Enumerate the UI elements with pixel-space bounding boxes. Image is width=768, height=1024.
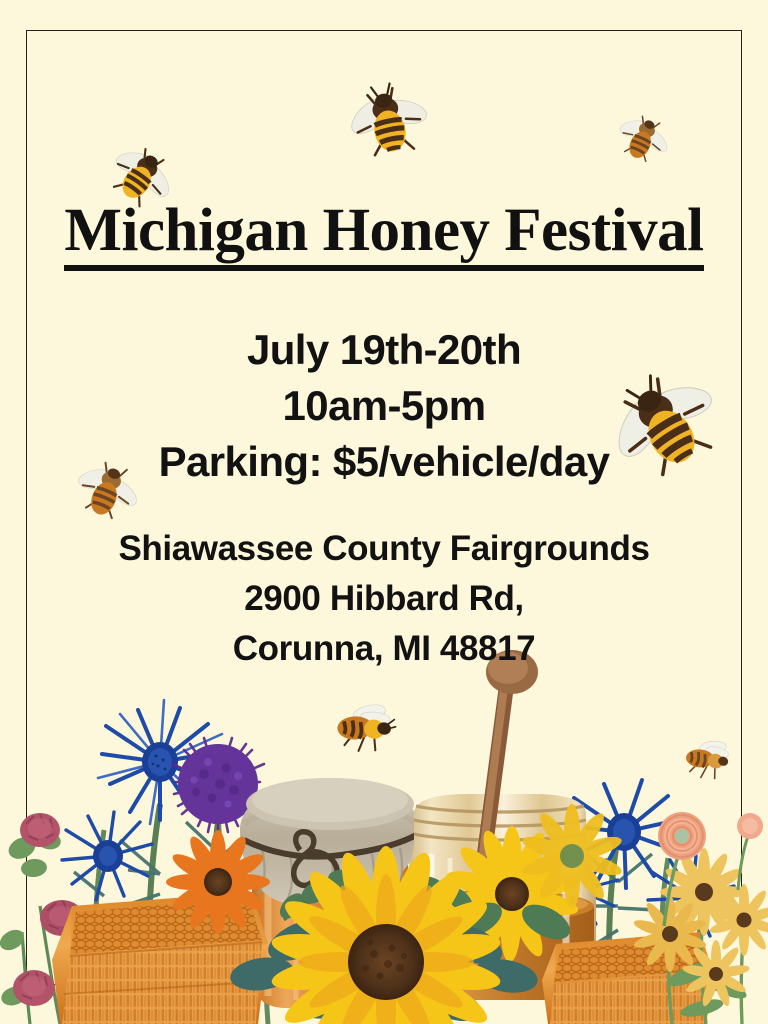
page-title-text: Michigan Honey Festival [64, 199, 703, 271]
location-block: Shiawassee County Fairgrounds 2900 Hibba… [0, 524, 768, 674]
peach-ranunculus [658, 812, 763, 926]
sunflower-right [443, 826, 580, 962]
honeycomb-block-left [52, 892, 268, 1024]
honey-jar-glass-with-dipper [404, 650, 596, 1000]
location-street: 2900 Hibbard Rd, [0, 574, 768, 624]
sunflower-left [166, 830, 270, 934]
honeycomb-block-right [542, 932, 714, 1024]
location-city-state-zip: Corunna, MI 48817 [0, 624, 768, 674]
bee-top-right [604, 98, 681, 175]
bee-top-center [336, 70, 438, 172]
black-eyed-susan [632, 848, 768, 1024]
page-title: Michigan Honey Festival [0, 196, 768, 271]
bee-right-low [671, 723, 742, 794]
location-venue: Shiawassee County Fairgrounds [0, 524, 768, 574]
blue-sea-holly-thistle [62, 700, 734, 940]
poster: Michigan Honey Festival July 19th-20th 1… [0, 0, 768, 1024]
honey-jar-cloth-cover [240, 778, 420, 1008]
bee-over-jars [322, 688, 403, 769]
purple-globe-thistle [172, 738, 264, 984]
red-clover [0, 813, 118, 1024]
sunflower-large [269, 846, 503, 1024]
green-foliage [72, 794, 706, 1024]
honey-dipper [450, 650, 538, 924]
green-foliage-front [228, 911, 540, 1024]
